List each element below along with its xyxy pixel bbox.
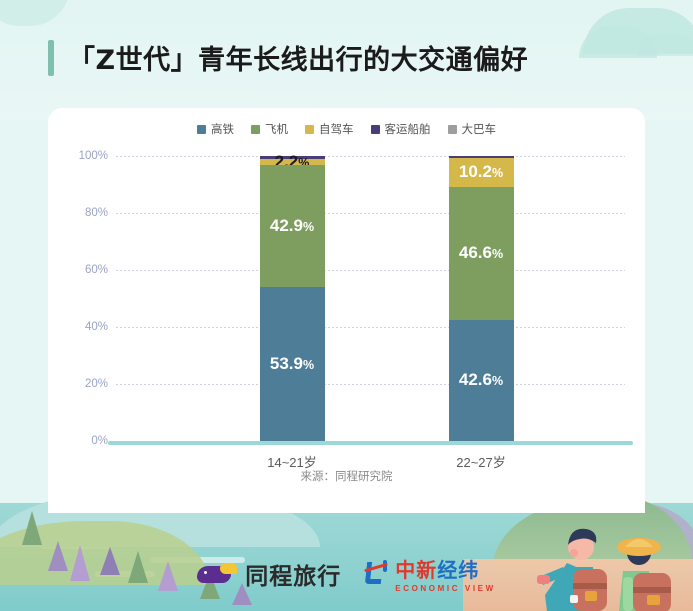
stacked-bars: 2.2%42.9%53.9%10.2%46.6%42.6% xyxy=(116,156,625,441)
tongcheng-logo: 同程旅行 xyxy=(197,557,341,591)
legend-label: 高铁 xyxy=(211,121,234,137)
bar-column[interactable]: 2.2%42.9%53.9% xyxy=(260,156,325,441)
bird-icon xyxy=(197,562,237,586)
legend-item[interactable]: 自驾车 xyxy=(305,121,354,137)
bar-segment[interactable]: 42.6% xyxy=(449,320,514,441)
legend-swatch xyxy=(371,125,380,134)
axis-baseline xyxy=(108,441,633,445)
y-axis-tick-label: 80% xyxy=(85,207,108,219)
bar-segment[interactable]: 53.9% xyxy=(260,287,325,441)
zhongxin-cn-blue: 经纬 xyxy=(437,558,479,582)
zhongxin-mark-icon xyxy=(363,560,389,588)
y-axis-tick-label: 0% xyxy=(91,435,108,447)
legend-item[interactable]: 飞机 xyxy=(251,121,288,137)
bar-segment-label: 42.6% xyxy=(459,370,503,390)
y-axis-tick-label: 20% xyxy=(85,378,108,390)
legend-label: 自驾车 xyxy=(319,121,354,137)
y-axis-tick-label: 100% xyxy=(79,150,108,162)
bar-segment[interactable]: 46.6% xyxy=(449,187,514,320)
bar-segment[interactable]: 10.2% xyxy=(449,158,514,187)
bar-segment[interactable]: 42.9% xyxy=(260,165,325,287)
legend-label: 大巴车 xyxy=(462,121,497,137)
legend-label: 客运船舶 xyxy=(385,121,431,137)
cloud-shape xyxy=(637,34,693,56)
bar-segment-label: 10.2% xyxy=(459,162,503,182)
legend-swatch xyxy=(251,125,260,134)
legend-item[interactable]: 客运船舶 xyxy=(371,121,431,137)
y-axis-tick-label: 60% xyxy=(85,264,108,276)
source-note: 来源：同程研究院 xyxy=(48,468,645,484)
legend-swatch xyxy=(448,125,457,134)
zhongxin-en-text: ECONOMIC VIEW xyxy=(395,584,495,593)
legend-item[interactable]: 高铁 xyxy=(197,121,234,137)
title-text: 「Z世代」青年长线出行的大交通偏好 xyxy=(68,38,528,77)
zhongxin-logo-text: 中新经纬 ECONOMIC VIEW xyxy=(395,554,495,593)
y-axis-tick-label: 40% xyxy=(85,321,108,333)
chart-legend: 高铁飞机自驾车客运船舶大巴车 xyxy=(48,121,645,137)
legend-item[interactable]: 大巴车 xyxy=(448,121,497,137)
legend-swatch xyxy=(197,125,206,134)
title-accent-bar xyxy=(48,40,54,76)
zhongxin-logo: 中新经纬 ECONOMIC VIEW xyxy=(363,554,495,593)
y-axis-labels: 0%20%40%60%80%100% xyxy=(48,156,114,441)
page-title: 「Z世代」青年长线出行的大交通偏好 xyxy=(48,38,528,77)
zhongxin-cn-red: 中新 xyxy=(395,558,437,582)
bar-column[interactable]: 10.2%46.6%42.6% xyxy=(449,156,514,441)
bar-segment-label: 46.6% xyxy=(459,243,503,263)
chart-plot-area: 0%20%40%60%80%100% 2.2%42.9%53.9%10.2%46… xyxy=(48,156,645,456)
legend-swatch xyxy=(305,125,314,134)
footer-logos: 同程旅行 中新经纬 ECONOMIC VIEW xyxy=(0,554,693,593)
tongcheng-logo-text: 同程旅行 xyxy=(245,557,341,591)
bar-segment-label: 53.9% xyxy=(270,354,314,374)
bar-segment-label: 42.9% xyxy=(270,216,314,236)
legend-label: 飞机 xyxy=(265,121,288,137)
chart-card: 高铁飞机自驾车客运船舶大巴车 0%20%40%60%80%100% 2.2%42… xyxy=(48,108,645,513)
